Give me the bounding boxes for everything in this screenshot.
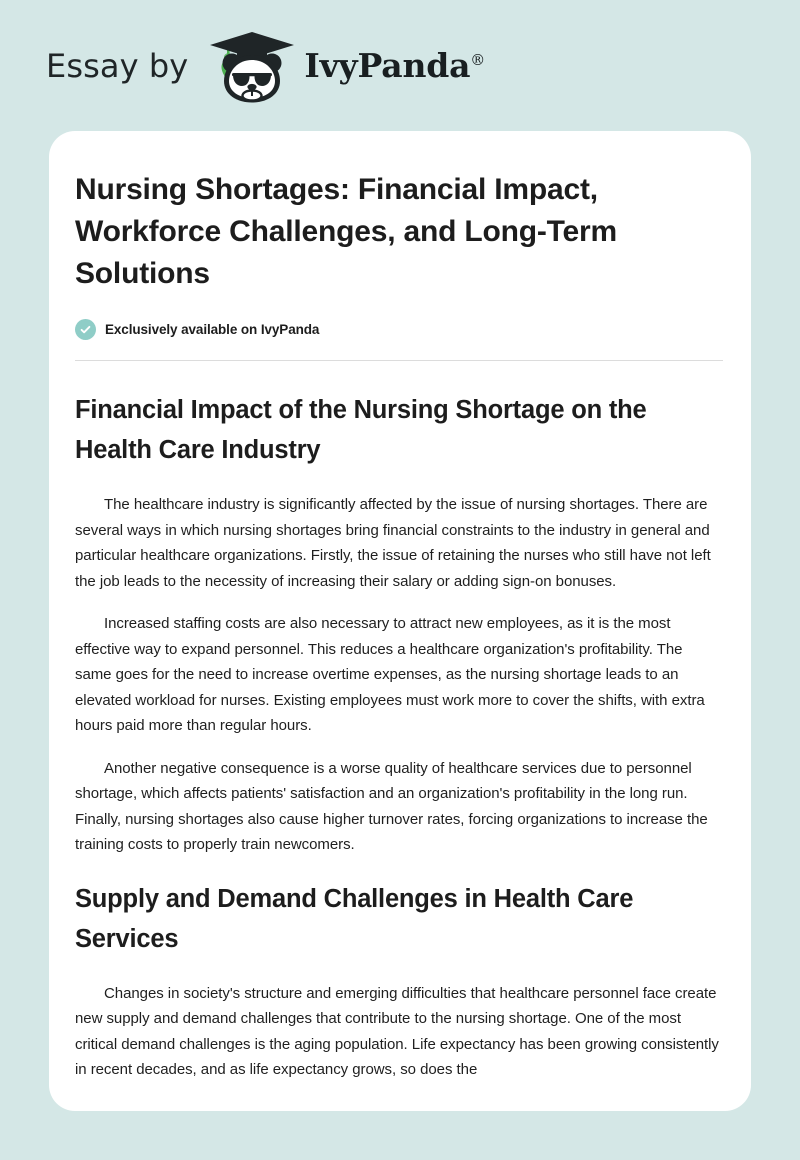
status-badge: Exclusively available on IvyPanda [75, 319, 723, 340]
ivypanda-wordmark-text: IvyPanda [304, 46, 470, 85]
paragraph: The healthcare industry is significantly… [75, 492, 723, 594]
ivypanda-panda-graduate-icon [206, 29, 298, 103]
paragraph: Changes in society's structure and emerg… [75, 981, 723, 1083]
brand-header: Essay by [0, 0, 800, 131]
section-heading-financial-impact: Financial Impact of the Nursing Shortage… [75, 390, 723, 470]
paragraph: Another negative consequence is a worse … [75, 756, 723, 858]
ivypanda-wordmark: IvyPanda® [304, 49, 485, 82]
essay-body: Financial Impact of the Nursing Shortage… [75, 361, 723, 1083]
essay-by-label: Essay by [46, 50, 188, 82]
status-badge-label: Exclusively available on IvyPanda [105, 323, 319, 337]
paragraph: Increased staffing costs are also necess… [75, 611, 723, 739]
section-heading-supply-and-demand: Supply and Demand Challenges in Health C… [75, 879, 723, 959]
page-title: Nursing Shortages: Financial Impact, Wor… [75, 169, 723, 295]
registered-trademark-mark: ® [470, 51, 485, 69]
check-circle-icon [75, 319, 96, 340]
essay-paper-card: Nursing Shortages: Financial Impact, Wor… [49, 131, 751, 1111]
